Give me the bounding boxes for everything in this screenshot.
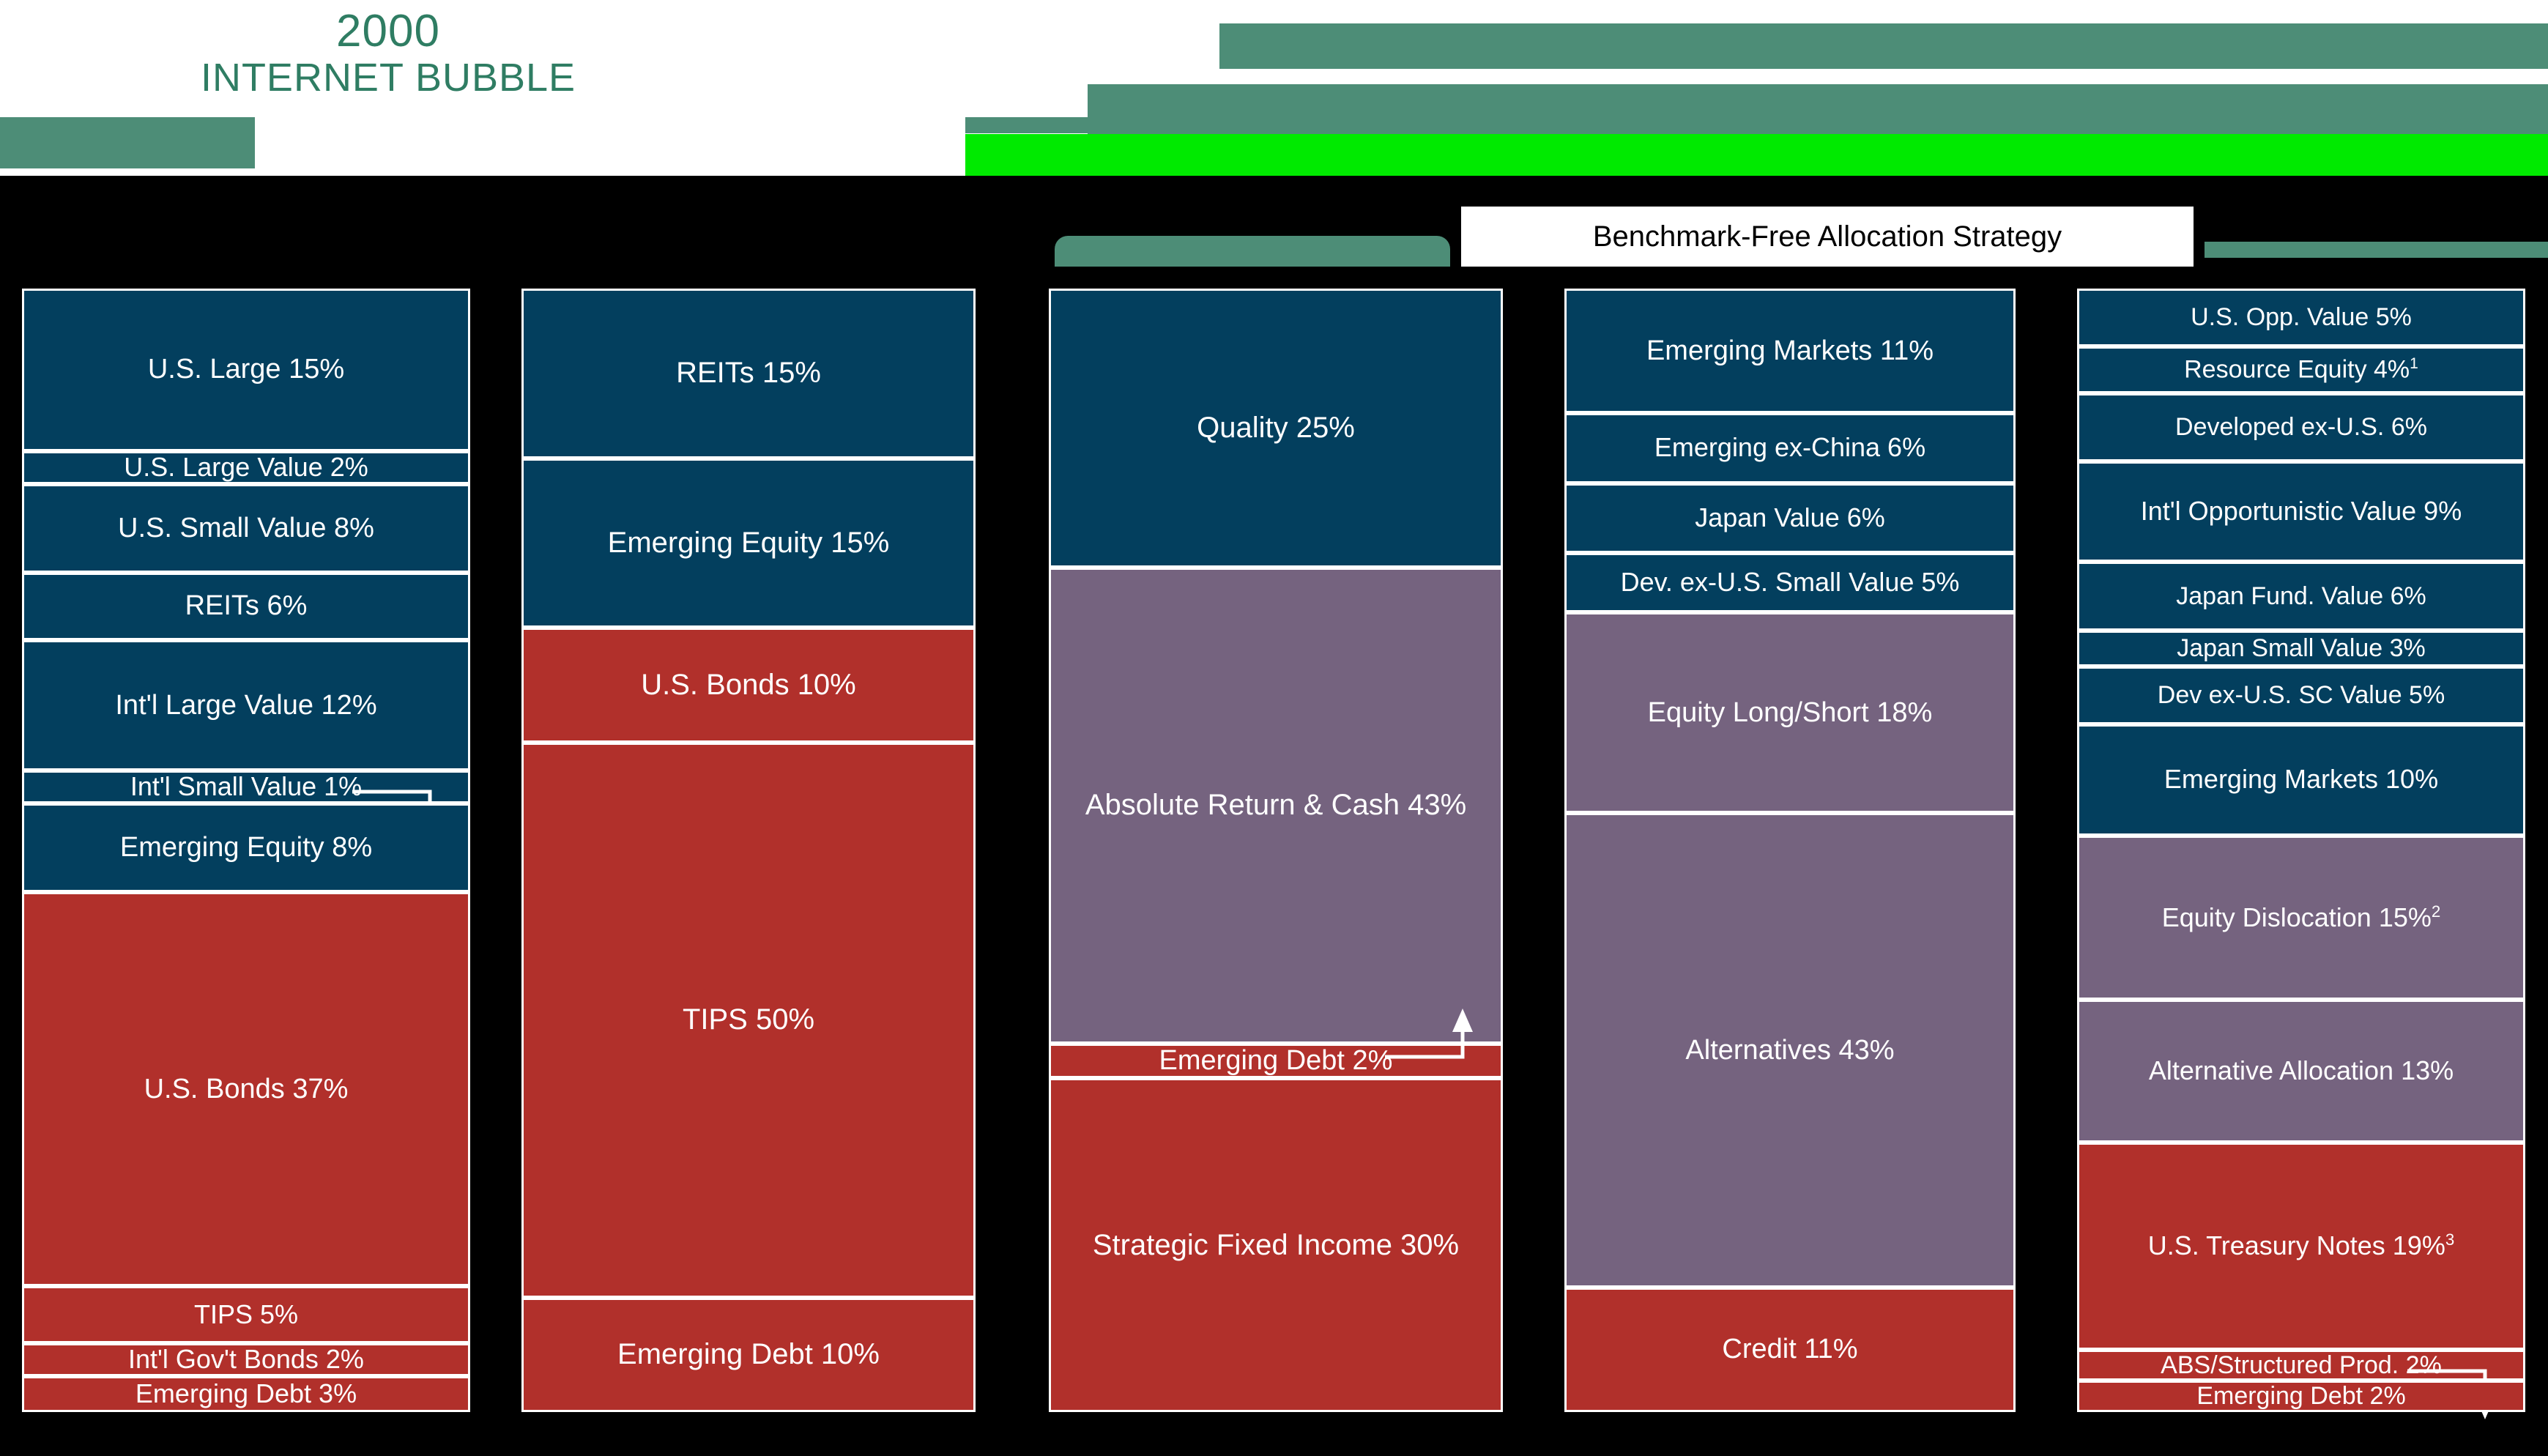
footnote-marker: 3 [2445, 1230, 2454, 1249]
allocation-segment-label: Equity Dislocation 15%2 [2158, 903, 2445, 932]
allocation-segment-label: Emerging Debt 10% [613, 1339, 884, 1370]
banner-bar-mid [1088, 84, 2548, 134]
allocation-segment: Absolute Return & Cash 43% [1049, 568, 1503, 1044]
allocation-segment-label: REITs 6% [181, 591, 312, 621]
allocation-segment: Alternative Allocation 13% [2077, 1000, 2525, 1143]
allocation-segment: Emerging Equity 15% [521, 458, 976, 628]
allocation-segment-label: Dev ex-U.S. SC Value 5% [2153, 682, 2449, 709]
allocation-segment: Japan Fund. Value 6% [2077, 562, 2525, 630]
allocation-segment: Developed ex-U.S. 6% [2077, 393, 2525, 461]
allocation-segment-label: U.S. Opp. Value 5% [2186, 304, 2416, 331]
banner-bar-left [0, 117, 255, 168]
allocation-segment-label: Quality 25% [1192, 412, 1359, 444]
allocation-segment: REITs 6% [22, 573, 470, 640]
allocation-segment-label: ABS/Structured Prod. 2% [2156, 1352, 2446, 1379]
allocation-segment-label: Equity Long/Short 18% [1643, 698, 1937, 728]
allocation-segment-label: Japan Value 6% [1690, 504, 1890, 532]
allocation-segment-label: Developed ex-U.S. 6% [2171, 414, 2432, 441]
allocation-segment: TIPS 5% [22, 1286, 470, 1343]
allocation-segment-label: Resource Equity 4%1 [2180, 356, 2423, 383]
allocation-segment-label: Dev. ex-U.S. Small Value 5% [1616, 568, 1964, 597]
allocation-segment-label: U.S. Small Value 8% [114, 513, 379, 543]
top-banner: 2000 INTERNET BUBBLE [0, 0, 2548, 176]
allocation-column: U.S. Large 15%U.S. Large Value 2%U.S. Sm… [22, 289, 470, 1412]
allocation-segment: Emerging Equity 8% [22, 803, 470, 892]
allocation-segment: Strategic Fixed Income 30% [1049, 1078, 1503, 1412]
allocation-segment-label: Emerging Equity 8% [116, 833, 376, 863]
allocation-segment-label: U.S. Treasury Notes 19%3 [2144, 1231, 2459, 1260]
allocation-segment: Emerging Debt 3% [22, 1376, 470, 1412]
allocation-segment-label: Credit 11% [1717, 1334, 1862, 1364]
footer-bar [0, 1424, 2548, 1456]
allocation-segment-label: Japan Fund. Value 6% [2172, 583, 2431, 610]
allocation-segment-label: TIPS 50% [678, 1004, 819, 1036]
subtitle-pill-shape [1055, 236, 1450, 267]
allocation-segment: U.S. Bonds 10% [521, 628, 976, 742]
banner-event-name: INTERNET BUBBLE [201, 55, 576, 100]
footnote-marker: 1 [2410, 355, 2418, 372]
allocation-column: U.S. Opp. Value 5%Resource Equity 4%1Dev… [2077, 289, 2525, 1412]
allocation-segment: Emerging Debt 2% [2077, 1381, 2525, 1412]
banner-year: 2000 [336, 7, 440, 55]
allocation-column: Quality 25%Absolute Return & Cash 43%Eme… [1049, 289, 1503, 1412]
allocation-segment-label: Alternatives 43% [1681, 1036, 1898, 1066]
allocation-column: REITs 15%Emerging Equity 15%U.S. Bonds 1… [521, 289, 976, 1412]
allocation-segment: U.S. Large Value 2% [22, 451, 470, 484]
allocation-segment: Emerging ex-China 6% [1564, 413, 2016, 483]
allocation-segment: Int'l Opportunistic Value 9% [2077, 461, 2525, 562]
allocation-segment: Equity Dislocation 15%2 [2077, 836, 2525, 1000]
subtitle-right-bar [2205, 242, 2548, 258]
allocation-segment-label: Int'l Opportunistic Value 9% [2136, 497, 2466, 526]
allocation-segment: Japan Small Value 3% [2077, 631, 2525, 667]
allocation-segment-label: U.S. Large Value 2% [119, 453, 373, 482]
allocation-segment-label: U.S. Large 15% [144, 354, 349, 385]
allocation-segment-label: Alternative Allocation 13% [2144, 1057, 2458, 1085]
allocation-segment: Int'l Small Value 1% [22, 770, 470, 803]
subtitle-row: Benchmark-Free Allocation Strategy [0, 207, 2548, 267]
allocation-segment: U.S. Opp. Value 5% [2077, 289, 2525, 346]
banner-bar-top [1219, 23, 2548, 69]
allocation-segment: Emerging Debt 10% [521, 1298, 976, 1412]
allocation-segment: Japan Value 6% [1564, 483, 2016, 554]
banner-divider [0, 176, 2548, 207]
allocation-segment-label: Emerging ex-China 6% [1650, 434, 1930, 462]
allocation-segment: Int'l Large Value 12% [22, 640, 470, 771]
allocation-segment: U.S. Treasury Notes 19%3 [2077, 1143, 2525, 1350]
allocation-segment-label: Int'l Large Value 12% [111, 691, 381, 721]
allocation-segment: Emerging Debt 2% [1049, 1044, 1503, 1078]
allocation-segment-label: Emerging Debt 2% [1155, 1046, 1397, 1076]
allocation-segment: Emerging Markets 11% [1564, 289, 2016, 413]
allocation-segment: REITs 15% [521, 289, 976, 458]
footnote-marker: 2 [2432, 902, 2440, 921]
banner-title-block: 2000 INTERNET BUBBLE [256, 7, 520, 146]
allocation-segment: Resource Equity 4%1 [2077, 346, 2525, 393]
allocation-segment: TIPS 50% [521, 743, 976, 1298]
allocation-column: Emerging Markets 11%Emerging ex-China 6%… [1564, 289, 2016, 1412]
allocation-segment: U.S. Bonds 37% [22, 892, 470, 1286]
allocation-segment: Dev. ex-U.S. Small Value 5% [1564, 553, 2016, 612]
allocation-segment-label: U.S. Bonds 37% [140, 1074, 353, 1104]
allocation-segment-label: Japan Small Value 3% [2172, 635, 2430, 662]
allocation-segment-label: TIPS 5% [190, 1301, 302, 1329]
allocation-segment: U.S. Small Value 8% [22, 484, 470, 573]
strategy-subtitle: Benchmark-Free Allocation Strategy [1461, 207, 2194, 267]
allocation-segment: Quality 25% [1049, 289, 1503, 568]
allocation-segment: Int'l Gov't Bonds 2% [22, 1343, 470, 1376]
allocation-segment-label: Emerging Debt 2% [2192, 1383, 2410, 1410]
allocation-treemap: U.S. Large 15%U.S. Large Value 2%U.S. Sm… [0, 267, 2548, 1424]
allocation-segment-label: Emerging Markets 10% [2160, 765, 2443, 794]
allocation-segment-label: Int'l Small Value 1% [126, 773, 366, 801]
allocation-segment-label: Emerging Equity 15% [603, 527, 894, 559]
allocation-segment: Emerging Markets 10% [2077, 724, 2525, 836]
allocation-segment-label: Int'l Gov't Bonds 2% [124, 1345, 368, 1374]
allocation-segment: Alternatives 43% [1564, 813, 2016, 1288]
allocation-segment: Equity Long/Short 18% [1564, 612, 2016, 814]
allocation-segment: U.S. Large 15% [22, 289, 470, 451]
allocation-segment-label: Absolute Return & Cash 43% [1081, 790, 1471, 821]
banner-bar-bright [965, 134, 2548, 176]
allocation-segment: Dev ex-U.S. SC Value 5% [2077, 666, 2525, 724]
allocation-segment-label: Emerging Debt 3% [131, 1380, 361, 1408]
allocation-segment: ABS/Structured Prod. 2% [2077, 1350, 2525, 1381]
allocation-segment-label: U.S. Bonds 10% [636, 669, 861, 701]
allocation-segment: Credit 11% [1564, 1288, 2016, 1412]
allocation-segment-label: Strategic Fixed Income 30% [1088, 1230, 1463, 1261]
allocation-segment-label: Emerging Markets 11% [1642, 336, 1938, 366]
allocation-segment-label: REITs 15% [672, 357, 825, 389]
